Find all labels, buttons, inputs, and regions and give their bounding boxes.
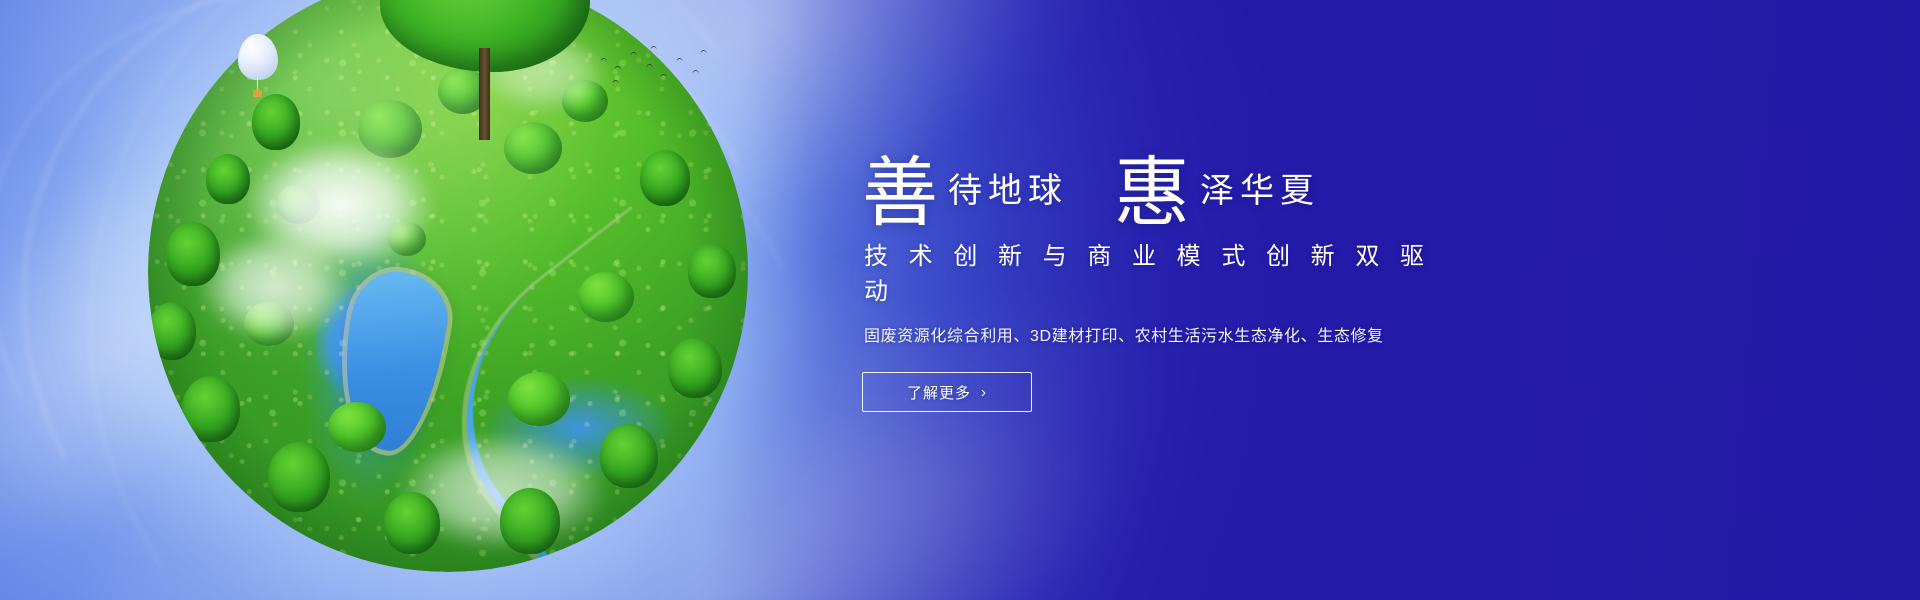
headline-char-hui: 惠 <box>1114 158 1190 228</box>
hero-banner: 善 待地球 惠 泽华夏 技 术 创 新 与 商 业 模 式 创 新 双 驱 动 … <box>0 0 1920 600</box>
headline-text-daidiqiu: 待地球 <box>938 163 1068 222</box>
headline-char-shan: 善 <box>862 158 938 228</box>
bird-icon <box>630 52 638 58</box>
planet-rim-tree <box>688 244 736 298</box>
bird-icon <box>692 70 700 76</box>
hero-subtitle: 技 术 创 新 与 商 业 模 式 创 新 双 驱 动 <box>864 236 1462 306</box>
chevron-right-icon: › <box>981 385 987 400</box>
bird-icon <box>660 74 668 80</box>
planet-rim-tree <box>148 302 196 360</box>
planet-rim-tree <box>384 492 440 554</box>
bird-icon <box>650 46 658 52</box>
hot-air-balloon-icon <box>238 34 278 80</box>
planet-rim-tree <box>640 150 690 206</box>
headline-text-zehuaxia: 泽华夏 <box>1190 163 1320 222</box>
bird-icon <box>646 64 654 70</box>
bird-icon <box>600 58 608 64</box>
planet-earth-graphic <box>148 0 748 572</box>
hot-air-balloon-basket <box>253 90 262 97</box>
learn-more-label: 了解更多 <box>907 382 971 403</box>
hero-copy-block: 善 待地球 惠 泽华夏 技 术 创 新 与 商 业 模 式 创 新 双 驱 动 … <box>862 136 1462 412</box>
bird-icon <box>676 58 684 64</box>
page-title: 善 待地球 惠 泽华夏 <box>862 136 1462 222</box>
bird-icon <box>614 66 622 72</box>
planet-rim-tree <box>668 338 722 398</box>
hero-tree-trunk <box>479 48 490 140</box>
bird-icon <box>700 50 708 56</box>
planet-rim-tree <box>166 222 220 286</box>
planet-rim-tree <box>182 376 240 442</box>
hero-description: 固废资源化综合利用、3D建材打印、农村生活污水生态净化、生态修复 <box>864 322 1462 346</box>
bird-icon <box>612 80 620 86</box>
planet-rim-tree <box>252 94 300 150</box>
planet-rim-tree <box>268 442 330 512</box>
learn-more-button[interactable]: 了解更多 › <box>862 372 1032 412</box>
planet-rim-tree <box>206 154 250 204</box>
planet-rim-tree <box>600 424 658 488</box>
planet-shading <box>148 0 748 572</box>
planet-rim-tree <box>500 488 560 554</box>
